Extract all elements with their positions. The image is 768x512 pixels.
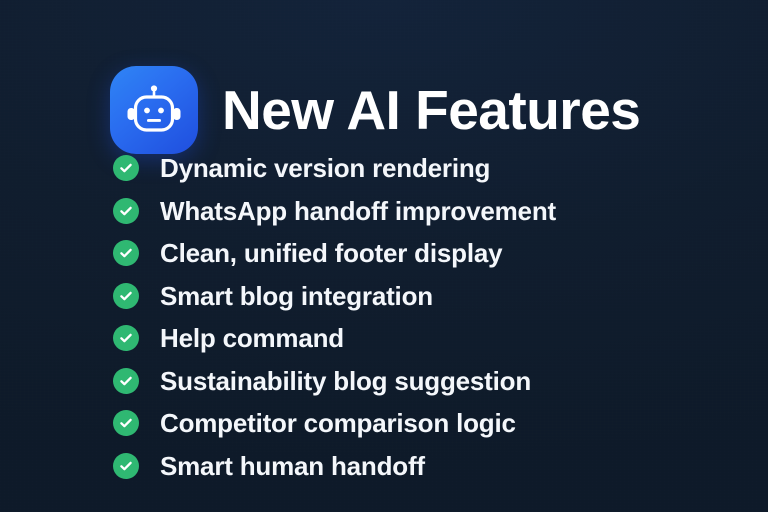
list-item-label: Help command bbox=[160, 325, 344, 351]
list-item: Dynamic version rendering bbox=[113, 155, 556, 181]
check-circle-icon bbox=[113, 325, 139, 351]
feature-list: Dynamic version rendering WhatsApp hando… bbox=[113, 155, 556, 479]
list-item-label: Smart blog integration bbox=[160, 283, 433, 309]
list-item-label: Dynamic version rendering bbox=[160, 155, 490, 181]
check-circle-icon bbox=[113, 198, 139, 224]
list-item: Smart human handoff bbox=[113, 453, 556, 479]
list-item: Help command bbox=[113, 325, 556, 351]
list-item: Clean, unified footer display bbox=[113, 240, 556, 266]
feature-announcement-card: New AI Features Dynamic version renderin… bbox=[0, 0, 768, 512]
list-item-label: Competitor comparison logic bbox=[160, 410, 516, 436]
page-title: New AI Features bbox=[222, 83, 640, 138]
list-item-label: WhatsApp handoff improvement bbox=[160, 198, 556, 224]
list-item: Competitor comparison logic bbox=[113, 410, 556, 436]
list-item: Smart blog integration bbox=[113, 283, 556, 309]
list-item-label: Sustainability blog suggestion bbox=[160, 368, 531, 394]
check-circle-icon bbox=[113, 283, 139, 309]
check-circle-icon bbox=[113, 240, 139, 266]
check-circle-icon bbox=[113, 410, 139, 436]
list-item-label: Clean, unified footer display bbox=[160, 240, 502, 266]
list-item: WhatsApp handoff improvement bbox=[113, 198, 556, 224]
list-item: Sustainability blog suggestion bbox=[113, 368, 556, 394]
check-circle-icon bbox=[113, 453, 139, 479]
robot-icon bbox=[110, 66, 198, 154]
list-item-label: Smart human handoff bbox=[160, 453, 425, 479]
check-circle-icon bbox=[113, 368, 139, 394]
check-circle-icon bbox=[113, 155, 139, 181]
